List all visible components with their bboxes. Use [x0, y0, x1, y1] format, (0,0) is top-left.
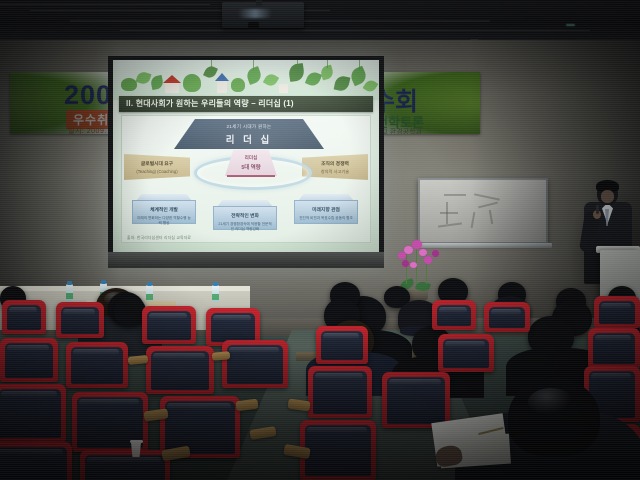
box-title: 미래지향 관점 [295, 206, 357, 213]
house-icon [165, 82, 179, 93]
projector-lens-icon [248, 22, 259, 29]
leaf-icon [263, 72, 279, 88]
seat-highlight [445, 341, 485, 347]
diagram-bottom-box: 미래지향 관점 전진적 비젼과 목표수립 공동의 협조 [294, 194, 358, 224]
stem-icon [253, 60, 254, 70]
orchid-bloom [419, 249, 427, 256]
auditorium-seat[interactable] [2, 300, 46, 334]
seat-highlight [7, 345, 49, 351]
diagram-side-box-right: 조직의 경쟁력 창의적 사고기술 [302, 154, 368, 180]
core-underline [227, 175, 275, 177]
lecture-hall-photo: 200 우수취업 일시: 2009. 수회 공전학토론 학교 환경공학과 [0, 0, 640, 480]
box-front-face: 미래지향 관점 전진적 비젼과 목표수립 공동의 협조 [294, 200, 358, 224]
leaf-icon [150, 75, 164, 90]
bottle-cap [67, 281, 72, 285]
projector-lamp-glow [238, 9, 272, 18]
hair-highlight [528, 388, 574, 416]
seat-highlight [595, 335, 631, 341]
auditorium-seat[interactable] [146, 346, 214, 394]
seat-highlight [9, 307, 37, 313]
seat-highlight [601, 303, 631, 309]
box-title: 전략적인 변화 [214, 212, 276, 219]
auditorium-seat[interactable] [0, 384, 66, 442]
seat-highlight [229, 347, 279, 353]
seat-highlight [1, 391, 57, 397]
house-icon [217, 80, 227, 93]
orchid-bloom [424, 256, 432, 264]
box-subtitle: 미래의 변화하는 다양한 역할수행 능력 향상 [133, 216, 195, 226]
house-icon [279, 84, 288, 93]
stem-icon [297, 60, 298, 66]
stem-icon [211, 60, 212, 68]
box-front-face: 전략적인 변화 21세기 경쟁환경속에 적응할 전문적인 리더십 역량강화 [213, 206, 277, 230]
slide-header-artwork [113, 60, 379, 100]
box-title: 체계적인 개발 [133, 206, 195, 213]
bottle-cap [147, 282, 152, 286]
auditorium-seat[interactable] [594, 296, 640, 328]
slide-footer-source: 출처: 한국리더십센터 리더십 교육자료 [127, 236, 191, 241]
core-line1: 리더십 [225, 155, 277, 161]
orchid-stem [406, 252, 407, 284]
auditorium-seat[interactable] [56, 302, 104, 338]
presenter-face [601, 190, 614, 203]
roof-icon [215, 73, 229, 81]
diagram-hero-block: 21세기 시대가 원하는 리 더 십 [174, 119, 324, 149]
orchid-bloom [410, 262, 417, 268]
bottle-label [146, 294, 153, 300]
leaf-icon [245, 66, 263, 85]
auditorium-seat[interactable] [222, 340, 288, 388]
bottle-cap [101, 280, 106, 284]
bottle-label [212, 294, 219, 300]
projected-slide: II. 현대사회가 원하는 우리들의 역량 – 리더십 (1) 21세기 시대가… [113, 60, 379, 252]
seat-highlight [87, 457, 161, 463]
stem-icon [327, 60, 328, 68]
screen-bottom-bar [108, 252, 384, 268]
bottle-label [66, 293, 73, 299]
slide-diagram: 21세기 시대가 원하는 리 더 십 글로벌시대 요구 (Teaching) (… [121, 115, 371, 243]
ceiling-light-icon [566, 24, 575, 26]
auditorium-seat[interactable] [66, 342, 128, 388]
seat-highlight [323, 333, 359, 339]
seat-highlight [153, 353, 205, 359]
diagram-side-box-left: 글로벌시대 요구 (Teaching) (Coaching) [124, 154, 190, 180]
seat-highlight [591, 373, 631, 379]
leaf-icon [135, 70, 151, 85]
ceiling-beam [120, 30, 590, 31]
tree-icon [121, 78, 137, 91]
side-box-title: 글로벌시대 요구 [124, 160, 190, 167]
stem-icon [359, 60, 360, 70]
leaf-icon [363, 78, 379, 94]
seat-highlight [307, 427, 367, 433]
box-front-face: 체계적인 개발 미래의 변화하는 다양한 역할수행 능력 향상 [132, 200, 196, 224]
auditorium-seat[interactable] [300, 420, 376, 480]
projector-mount [256, 0, 262, 6]
auditorium-seat[interactable] [142, 306, 196, 344]
auditorium-seat[interactable] [432, 300, 476, 330]
seat-highlight [167, 403, 231, 409]
seat-highlight [315, 373, 363, 379]
orchid-bloom [402, 260, 409, 267]
hero-heading: 리 더 십 [174, 132, 324, 146]
auditorium-seat[interactable] [588, 328, 640, 368]
seat-highlight [0, 449, 63, 455]
diagram-core-block: 리더십 5대 역량 [225, 150, 277, 176]
slide-title: II. 현대사회가 원하는 우리들의 역량 – 리더십 (1) [119, 96, 373, 112]
box-subtitle: 전진적 비젼과 목표수립 공동의 협조 [295, 216, 357, 221]
diagram-bottom-box: 전략적인 변화 21세기 경쟁환경속에 적응할 전문적인 리더십 역량강화 [213, 200, 277, 230]
seat-highlight [149, 313, 187, 319]
seat-highlight [491, 309, 521, 315]
auditorium-seat[interactable] [382, 372, 450, 428]
orchid-bloom [432, 250, 439, 257]
seat-highlight [439, 307, 467, 313]
auditorium-seat[interactable] [0, 442, 72, 480]
bottle-cap [213, 282, 218, 286]
microphone-icon [596, 205, 599, 214]
auditorium-seat[interactable] [0, 338, 58, 382]
seat-highlight [63, 309, 95, 315]
seat-highlight [389, 379, 441, 385]
seat-highlight [73, 349, 119, 355]
auditorium-seat[interactable] [484, 302, 530, 332]
auditorium-seat[interactable] [316, 326, 368, 364]
ceiling-beam [0, 4, 210, 5]
tree-icon [183, 74, 201, 92]
leaf-icon [334, 75, 351, 93]
seat-armrest [212, 351, 231, 361]
seat-highlight [213, 315, 251, 321]
auditorium-seat[interactable] [438, 334, 494, 372]
leaf-icon [305, 70, 322, 88]
orchid-bloom [412, 240, 422, 249]
seat-highlight [79, 399, 139, 405]
diagram-bottom-box: 체계적인 개발 미래의 변화하는 다양한 역할수행 능력 향상 [132, 194, 196, 224]
core-line2: 5대 역량 [225, 163, 277, 171]
box-subtitle: 21세기 경쟁환경속에 적응할 전문적인 리더십 역량강화 [214, 222, 276, 232]
orchid-bloom [404, 246, 413, 254]
auditorium-seat[interactable] [80, 450, 170, 480]
tree-icon [231, 78, 245, 92]
hero-subtitle: 21세기 시대가 원하는 [174, 124, 324, 130]
roof-icon [163, 75, 181, 83]
auditorium-seat[interactable] [308, 366, 372, 418]
side-box-subtitle: (Teaching) (Coaching) [124, 169, 190, 174]
side-box-title: 조직의 경쟁력 [302, 160, 368, 167]
